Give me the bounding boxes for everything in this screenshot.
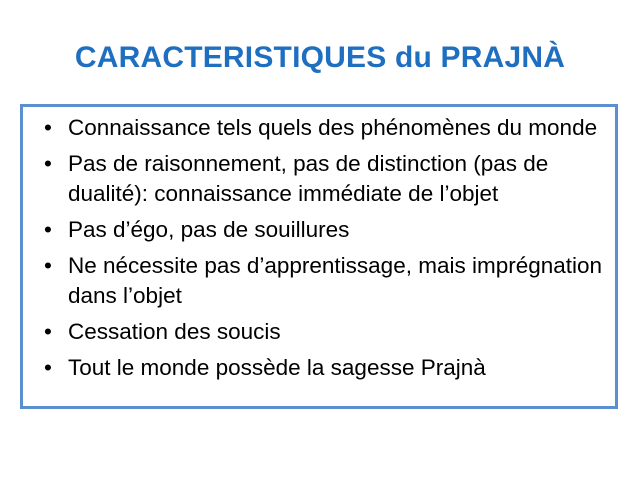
list-item: • Tout le monde possède la sagesse Prajn… (35, 353, 605, 383)
bullet-point-icon: • (44, 251, 60, 281)
list-item: • Connaissance tels quels des phénomènes… (35, 113, 605, 143)
content-box: • Connaissance tels quels des phénomènes… (20, 104, 618, 409)
page-title: CARACTERISTIQUES du PRAJNÀ (0, 40, 640, 76)
list-item-label: Ne nécessite pas d’apprentissage, mais i… (68, 251, 605, 311)
list-item: • Cessation des soucis (35, 317, 605, 347)
list-item-label: Pas de raisonnement, pas de distinction … (68, 149, 605, 209)
list-item-label: Connaissance tels quels des phénomènes d… (68, 113, 605, 143)
list-item-label: Pas d’égo, pas de souillures (68, 215, 605, 245)
list-item-label: Cessation des soucis (68, 317, 605, 347)
list-item: • Pas d’égo, pas de souillures (35, 215, 605, 245)
presentation-slide: CARACTERISTIQUES du PRAJNÀ • Connaissanc… (0, 0, 640, 480)
bullet-list: • Connaissance tels quels des phénomènes… (35, 113, 605, 383)
bullet-point-icon: • (44, 215, 60, 245)
bullet-point-icon: • (44, 353, 60, 383)
bullet-point-icon: • (44, 113, 60, 143)
list-item: • Pas de raisonnement, pas de distinctio… (35, 149, 605, 209)
bullet-point-icon: • (44, 149, 60, 179)
bullet-point-icon: • (44, 317, 60, 347)
list-item-label: Tout le monde possède la sagesse Prajnà (68, 353, 605, 383)
list-item: • Ne nécessite pas d’apprentissage, mais… (35, 251, 605, 311)
